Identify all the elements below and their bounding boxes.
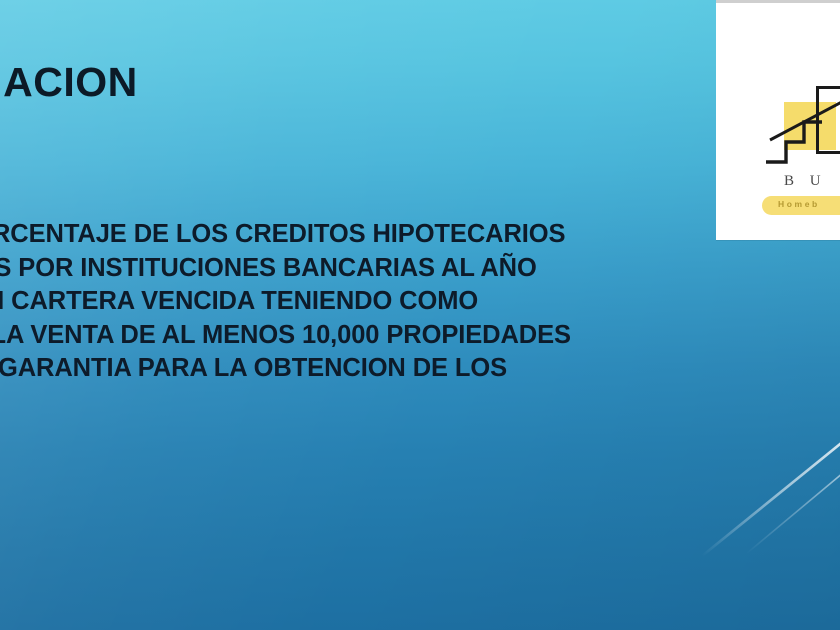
body-line: INAN EN CARTERA VENCIDA TENIENDO COMO [0,285,800,319]
decorative-light-streaks [686,404,840,574]
body-line: RGADOS POR INSTITUCIONES BANCARIAS AL AÑ… [0,252,800,286]
logo-artwork [764,84,840,164]
logo-wordmark: B U [784,173,827,190]
body-line: LTADO LA VENTA DE AL MENOS 10,000 PROPIE… [0,319,800,353]
diagonal-line-icon [768,82,840,144]
body-line: DITOS. [0,386,800,420]
body-line: LTO PORCENTAJE DE LOS CREDITOS HIPOTECAR… [0,218,800,252]
presentation-slide: ORMACION LTO PORCENTAJE DE LOS CREDITOS … [0,0,840,630]
slide-body-text: LTO PORCENTAJE DE LOS CREDITOS HIPOTECAR… [0,218,800,419]
body-line: TAS EN GARANTIA PARA LA OBTENCION DE LOS [0,352,800,386]
logo-tagline: Homeb [778,199,820,209]
slide-title: ORMACION [0,58,606,106]
